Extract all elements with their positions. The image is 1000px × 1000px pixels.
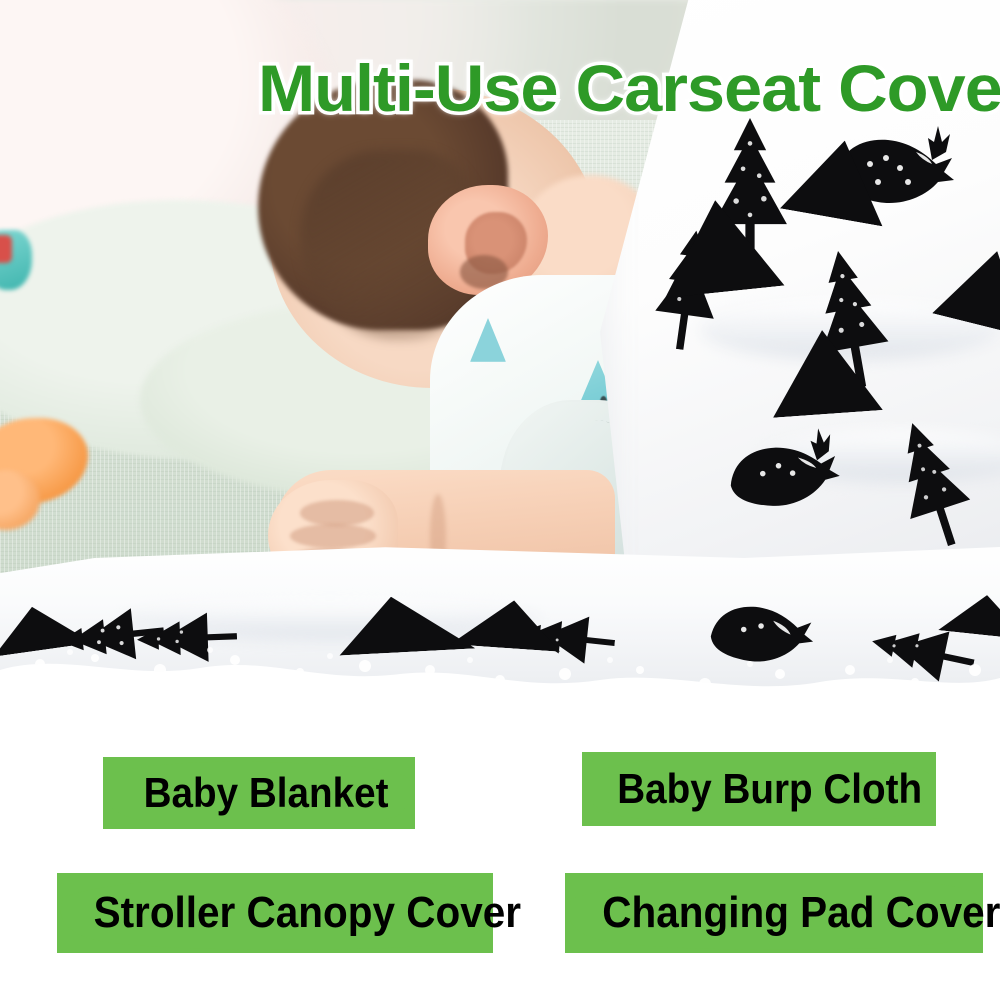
feature-label: Stroller Canopy Cover	[94, 888, 521, 938]
feature-label: Baby Burp Cloth	[617, 765, 922, 813]
feature-label: Changing Pad Cover	[602, 888, 1000, 938]
page-title: Multi-Use Carseat Cove	[258, 52, 1000, 124]
feature-list-panel	[0, 700, 1000, 1000]
feature-changing-pad-cover[interactable]: Changing Pad Cover	[565, 873, 983, 953]
red-toy	[0, 235, 12, 263]
feature-label: Baby Blanket	[144, 769, 389, 817]
pine-tree-icon	[136, 597, 239, 678]
stag-icon	[700, 409, 853, 528]
product-infographic: Multi-Use Carseat Cove Baby Blanket Baby…	[0, 0, 1000, 1000]
feature-stroller-canopy-cover[interactable]: Stroller Canopy Cover	[57, 873, 493, 953]
baby-finger	[300, 500, 374, 526]
stag-icon	[690, 578, 820, 674]
feature-baby-blanket[interactable]: Baby Blanket	[103, 757, 415, 829]
feature-baby-burp-cloth[interactable]: Baby Burp Cloth	[582, 752, 936, 826]
baby-finger	[290, 524, 376, 548]
